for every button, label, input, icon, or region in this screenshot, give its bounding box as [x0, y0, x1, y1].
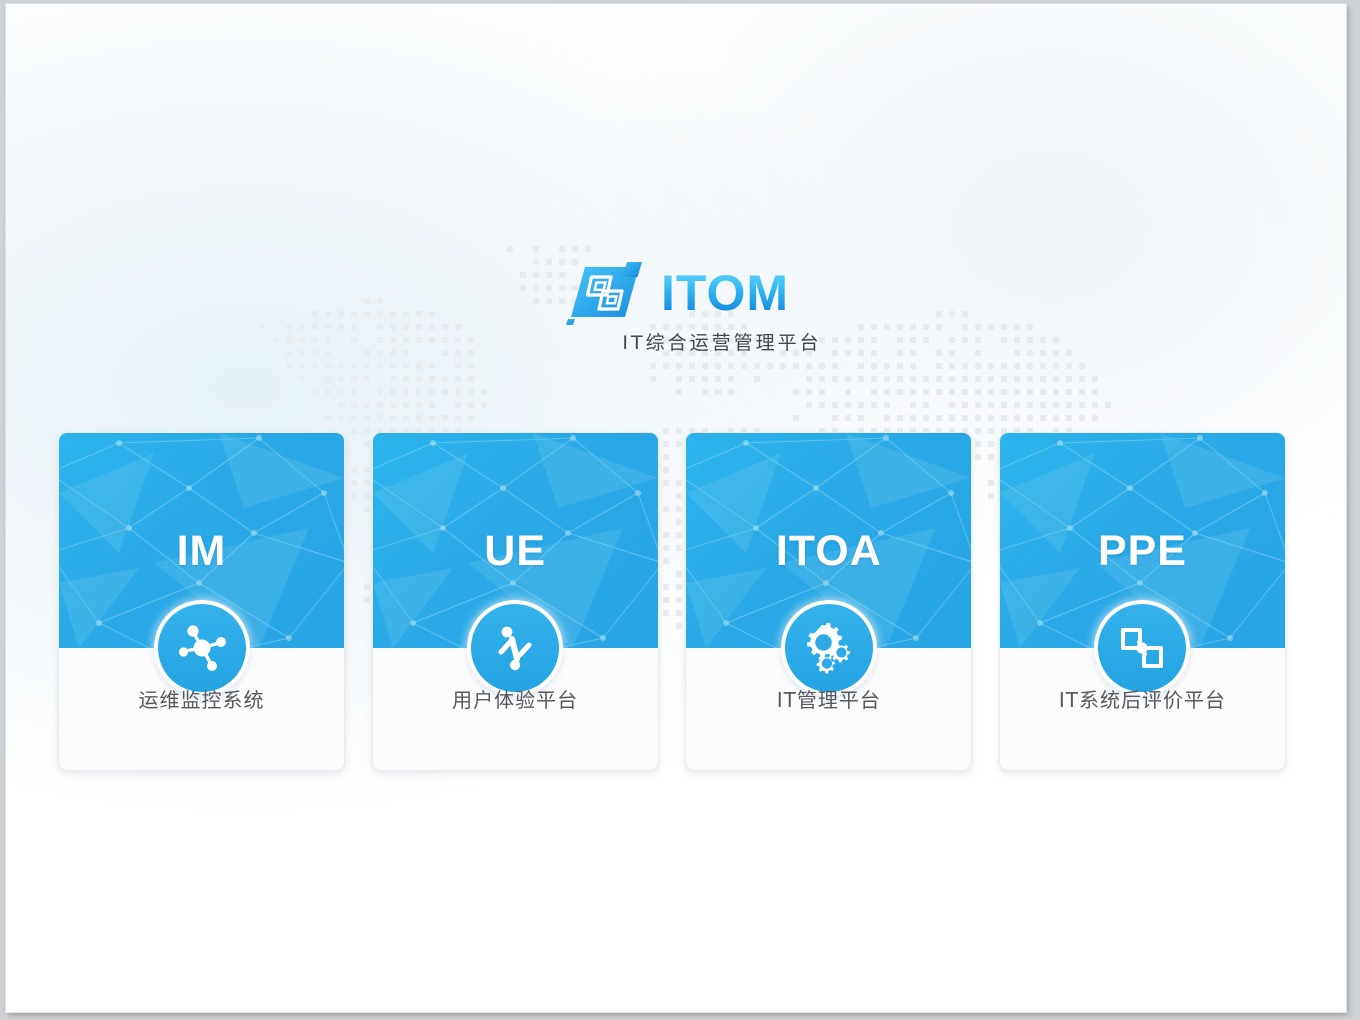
card-abbr: IM — [59, 527, 344, 576]
slide-page: ITOM IT综合运营管理平台 — [6, 4, 1346, 1012]
itom-logo-mark — [563, 261, 647, 325]
product-card-ue[interactable]: UE 用户体验平台 — [372, 432, 659, 771]
card-label: 运维监控系统 — [59, 648, 344, 770]
brand-logo-row: ITOM — [563, 260, 789, 326]
brand-title: ITOM — [661, 268, 789, 318]
product-card-row: IM 运维监控系统 — [58, 432, 1286, 772]
brand-subtitle: IT综合运营管理平台 — [622, 328, 821, 355]
brand-header: ITOM IT综合运营管理平台 — [6, 260, 1346, 355]
card-label: IT管理平台 — [686, 648, 971, 770]
card-label: IT系统后评价平台 — [1000, 648, 1285, 770]
product-card-itoa[interactable]: ITOA IT管理平台 — [685, 432, 972, 771]
card-abbr: PPE — [1000, 527, 1285, 576]
card-abbr: UE — [373, 527, 658, 576]
product-card-ppe[interactable]: PPE IT系统后评价平台 — [999, 432, 1286, 771]
card-abbr: ITOA — [686, 527, 971, 576]
card-label: 用户体验平台 — [373, 648, 658, 770]
product-card-im[interactable]: IM 运维监控系统 — [58, 432, 345, 771]
